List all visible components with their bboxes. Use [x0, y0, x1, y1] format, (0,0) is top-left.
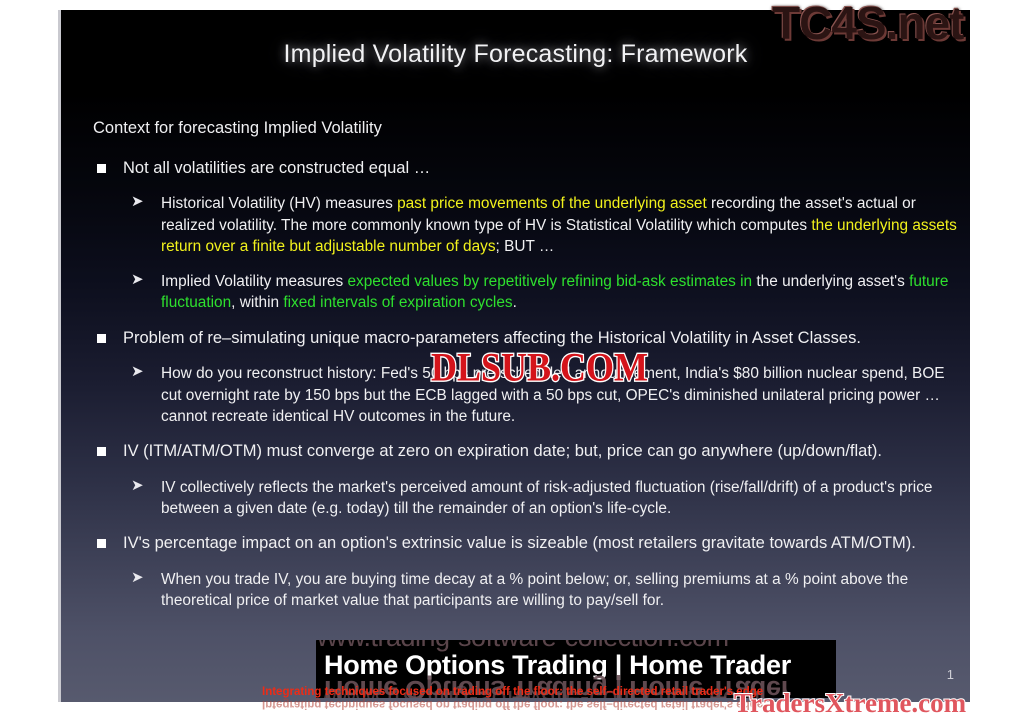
bullet-text: When you trade IV, you are buying time d…	[161, 571, 908, 609]
text-run-green: expected values by repetitively refining…	[347, 273, 752, 290]
bullet-text: Problem of re–simulating unique macro-pa…	[123, 329, 861, 347]
text-run-white: , within	[231, 294, 283, 311]
page-number: 1	[947, 667, 954, 682]
square-bullet-icon	[97, 539, 106, 548]
bullet-level-2: ➤Implied Volatility measures expected va…	[91, 271, 959, 314]
square-bullet-icon	[97, 447, 106, 456]
bullet-level-2: ➤When you trade IV, you are buying time …	[91, 569, 959, 612]
arrow-bullet-icon: ➤	[131, 192, 144, 213]
presentation-slide: Implied Volatility Forecasting: Framewor…	[58, 10, 970, 702]
bullet-level-2: ➤IV collectively reflects the market's p…	[91, 477, 959, 520]
bullet-text: How do you reconstruct history: Fed's 50…	[161, 365, 945, 425]
bullet-level-1: IV (ITM/ATM/OTM) must converge at zero o…	[91, 441, 959, 463]
text-run-white: Historical Volatility (HV) measures	[161, 195, 397, 212]
text-run-green: fixed intervals of expiration cycles	[283, 294, 512, 311]
text-run-white: ; BUT …	[496, 238, 555, 255]
slide-stage: Implied Volatility Forecasting: Framewor…	[0, 0, 1024, 724]
slide-body: Context for forecasting Implied Volatili…	[91, 118, 959, 626]
bullet-level-1: Not all volatilities are constructed equ…	[91, 158, 959, 180]
bullet-text: IV collectively reflects the market's pe…	[161, 479, 932, 517]
text-run-white: .	[513, 294, 517, 311]
arrow-bullet-icon: ➤	[131, 270, 144, 291]
bullet-text: IV (ITM/ATM/OTM) must converge at zero o…	[123, 442, 882, 460]
bullet-list: Not all volatilities are constructed equ…	[91, 158, 959, 612]
bullet-text: Not all volatilities are constructed equ…	[123, 159, 430, 177]
page-title: Implied Volatility Forecasting: Framewor…	[61, 40, 970, 69]
square-bullet-icon	[97, 164, 106, 173]
bullet-text: Historical Volatility (HV) measures past…	[161, 195, 957, 255]
watermark-banner: www.trading-software-collection.com Home…	[316, 640, 836, 698]
text-run-white: the underlying asset's	[752, 273, 909, 290]
arrow-bullet-icon: ➤	[131, 476, 144, 497]
arrow-bullet-icon: ➤	[131, 362, 144, 383]
watermark-banner-ghost-bottom: www.trading-software-collection.com	[322, 684, 760, 698]
lead-paragraph: Context for forecasting Implied Volatili…	[91, 118, 959, 139]
text-run-white: Implied Volatility measures	[161, 273, 347, 290]
bullet-level-2: ➤How do you reconstruct history: Fed's 5…	[91, 363, 959, 427]
bullet-text: Implied Volatility measures expected val…	[161, 273, 948, 311]
square-bullet-icon	[97, 334, 106, 343]
bullet-text: IV's percentage impact on an option's ex…	[123, 534, 916, 552]
bullet-level-1: IV's percentage impact on an option's ex…	[91, 533, 959, 555]
arrow-bullet-icon: ➤	[131, 568, 144, 589]
bullet-level-2: ➤Historical Volatility (HV) measures pas…	[91, 193, 959, 257]
bullet-level-1: Problem of re–simulating unique macro-pa…	[91, 328, 959, 350]
text-run-yellow: past price movements of the underlying a…	[397, 195, 707, 212]
